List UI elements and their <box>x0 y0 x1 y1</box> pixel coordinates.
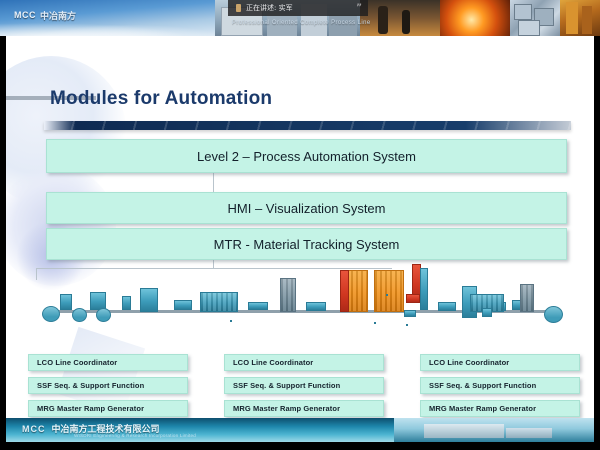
machine-blue-4 <box>140 288 158 312</box>
machine-blue-7 <box>248 302 268 310</box>
module-item-ssf[interactable]: SSF Seq. & Support Function <box>420 377 580 394</box>
module-column-2: LCO Line Coordinator SSF Seq. & Support … <box>224 354 384 418</box>
module-item-label: SSF Seq. & Support Function <box>429 381 536 390</box>
module-box-mtr[interactable]: MTR - Material Tracking System <box>46 228 567 260</box>
spacer-2 <box>374 322 376 324</box>
banner-logo-chinese: 中冶南方 <box>40 9 76 22</box>
machine-blue-9 <box>438 302 456 311</box>
module-item-label: MRG Master Ramp Generator <box>233 404 340 413</box>
furnace-red-edge <box>340 270 349 312</box>
module-item-lco[interactable]: LCO Line Coordinator <box>420 354 580 371</box>
spacer <box>406 324 408 326</box>
background-watermark-1 <box>6 56 126 206</box>
roller-2 <box>96 308 111 322</box>
module-column-3: LCO Line Coordinator SSF Seq. & Support … <box>420 354 580 418</box>
furnace-orange-2 <box>374 270 404 312</box>
machine-blue-5 <box>174 300 192 310</box>
video-caption-overlay: 正在讲述: 实军 ” <box>228 0 368 16</box>
uncoiler-roll-1 <box>42 306 60 322</box>
banner-subtitle: Professional Oriented Complete Process L… <box>232 20 371 26</box>
branch-line-vertical <box>36 268 37 280</box>
module-item-label: SSF Seq. & Support Function <box>37 381 144 390</box>
presentation-slide: MCC 中冶南方 正在讲述: 实军 ” Professional Oriente… <box>0 0 600 450</box>
module-item-mrg[interactable]: MRG Master Ramp Generator <box>224 400 384 417</box>
machine-blue-1 <box>60 294 72 310</box>
footer-logo-mcc: MCC <box>22 424 46 434</box>
banner-industry-photo <box>360 0 440 36</box>
banner-slab-photo <box>560 0 600 36</box>
module-label: HMI – Visualization System <box>228 201 386 216</box>
tower-steel-1 <box>280 278 296 312</box>
module-item-lco[interactable]: LCO Line Coordinator <box>28 354 188 371</box>
module-item-label: LCO Line Coordinator <box>233 358 313 367</box>
module-item-label: MRG Master Ramp Generator <box>37 404 144 413</box>
slide-body: Modules for Automation Level 2 – Process… <box>6 36 594 418</box>
module-box-level2[interactable]: Level 2 – Process Automation System <box>46 139 567 173</box>
quote-icon: ” <box>356 3 362 13</box>
process-line-illustration <box>34 264 570 342</box>
module-item-ssf[interactable]: SSF Seq. & Support Function <box>224 377 384 394</box>
module-item-label: LCO Line Coordinator <box>429 358 509 367</box>
module-item-lco[interactable]: LCO Line Coordinator <box>224 354 384 371</box>
module-item-mrg[interactable]: MRG Master Ramp Generator <box>420 400 580 417</box>
caster-base <box>404 310 416 317</box>
machine-blue-6 <box>200 292 238 312</box>
connector-line-top <box>213 171 214 192</box>
branch-line-horizontal <box>36 268 392 269</box>
module-item-ssf[interactable]: SSF Seq. & Support Function <box>28 377 188 394</box>
top-banner-image: MCC 中冶南方 正在讲述: 实军 ” Professional Oriente… <box>0 0 600 36</box>
title-underline-bar <box>44 121 571 130</box>
machine-blue-8 <box>306 302 326 311</box>
footer-logo: MCC 中冶南方工程技术有限公司 WISDRI Engineering & Re… <box>22 422 160 435</box>
speaker-icon <box>236 4 241 12</box>
banner-coils-photo <box>510 0 560 36</box>
footer-logo-english: WISDRI Engineering & Research Incorporat… <box>74 433 196 438</box>
module-label: MTR - Material Tracking System <box>214 237 400 252</box>
caster-arm <box>406 294 420 303</box>
caster-tower-blue <box>420 268 428 310</box>
footer-shadow <box>6 442 594 450</box>
recoiler-roll <box>544 306 563 323</box>
slide-footer: MCC 中冶南方工程技术有限公司 WISDRI Engineering & Re… <box>6 418 594 442</box>
spacer-3 <box>230 320 232 322</box>
banner-furnace-photo <box>440 0 510 36</box>
module-box-hmi[interactable]: HMI – Visualization System <box>46 192 567 224</box>
module-label: Level 2 – Process Automation System <box>197 149 416 164</box>
overlay-caption-text: 正在讲述: 实军 <box>246 3 293 13</box>
tower-steel-2 <box>520 284 534 312</box>
uncoiler-roll-2 <box>72 308 87 322</box>
spacer-4 <box>386 294 388 296</box>
machine-blue-3 <box>122 296 131 310</box>
machine-blue-13 <box>482 308 492 317</box>
footer-building-photo <box>394 418 594 442</box>
banner-logo-mcc: MCC <box>14 10 36 20</box>
page-title: Modules for Automation <box>50 88 272 110</box>
module-column-1: LCO Line Coordinator SSF Seq. & Support … <box>28 354 188 418</box>
module-item-label: MRG Master Ramp Generator <box>429 404 536 413</box>
banner-logo: MCC 中冶南方 <box>14 8 110 22</box>
module-item-mrg[interactable]: MRG Master Ramp Generator <box>28 400 188 417</box>
module-item-label: LCO Line Coordinator <box>37 358 117 367</box>
module-item-label: SSF Seq. & Support Function <box>233 381 340 390</box>
